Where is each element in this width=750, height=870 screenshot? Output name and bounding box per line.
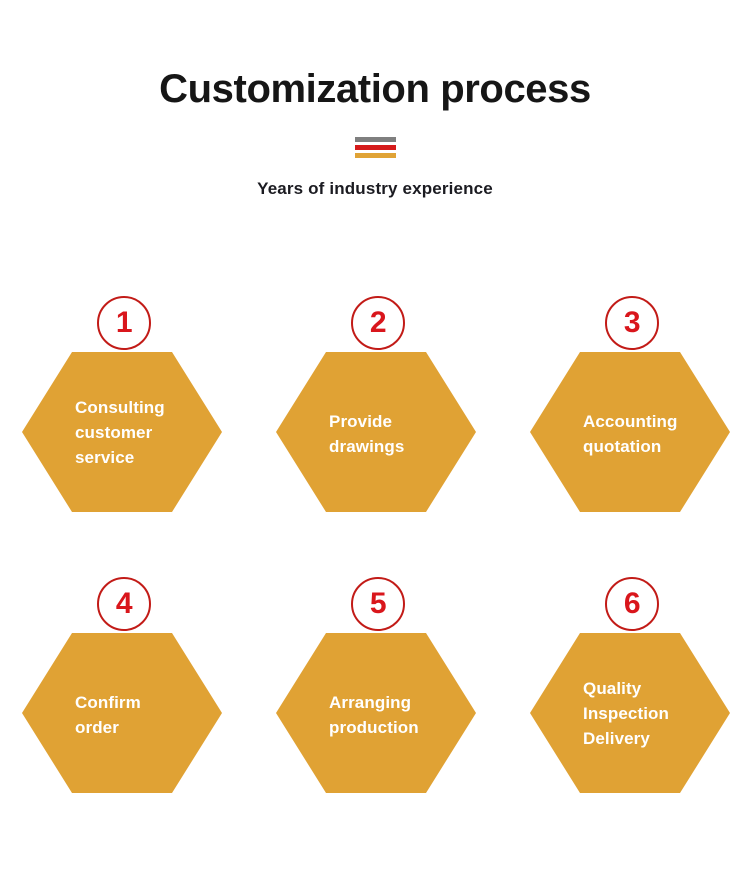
step-label: Confirm order <box>75 633 215 795</box>
process-step-4[interactable]: Confirm order 4 <box>22 577 222 793</box>
step-number-badge: 6 <box>605 577 659 631</box>
step-number-badge: 3 <box>605 296 659 350</box>
step-label: Accounting quotation <box>583 352 723 514</box>
process-step-2[interactable]: Provide drawings 2 <box>276 296 476 512</box>
divider-bar-red <box>355 145 396 150</box>
process-step-1[interactable]: Consulting customer service 1 <box>22 296 222 512</box>
divider <box>355 137 396 158</box>
page-title: Customization process <box>0 0 750 111</box>
step-number-badge: 5 <box>351 577 405 631</box>
header: Customization process Years of industry … <box>0 0 750 199</box>
step-label: Consulting customer service <box>75 352 215 512</box>
step-number: 3 <box>624 308 640 338</box>
process-step-5[interactable]: Arranging production 5 <box>276 577 476 793</box>
process-step-row-bottom: Confirm order 4 Arranging production 5 Q… <box>0 577 750 858</box>
step-number: 2 <box>370 308 386 338</box>
step-number: 6 <box>624 589 640 619</box>
process-step-row-top: Consulting customer service 1 Provide dr… <box>0 296 750 577</box>
step-number-badge: 2 <box>351 296 405 350</box>
step-label: Arranging production <box>329 633 469 795</box>
divider-bar-orange <box>355 153 396 158</box>
process-step-3[interactable]: Accounting quotation 3 <box>530 296 730 512</box>
process-step-grid: Consulting customer service 1 Provide dr… <box>0 296 750 858</box>
subtitle: Years of industry experience <box>0 179 750 199</box>
divider-bar-gray <box>355 137 396 142</box>
customization-process-infographic: Customization process Years of industry … <box>0 0 750 870</box>
step-number: 1 <box>116 308 132 338</box>
step-label: Quality Inspection Delivery <box>583 633 723 793</box>
step-number: 5 <box>370 589 386 619</box>
step-number-badge: 4 <box>97 577 151 631</box>
step-number: 4 <box>116 589 132 619</box>
step-number-badge: 1 <box>97 296 151 350</box>
step-label: Provide drawings <box>329 352 469 514</box>
process-step-6[interactable]: Quality Inspection Delivery 6 <box>530 577 730 793</box>
